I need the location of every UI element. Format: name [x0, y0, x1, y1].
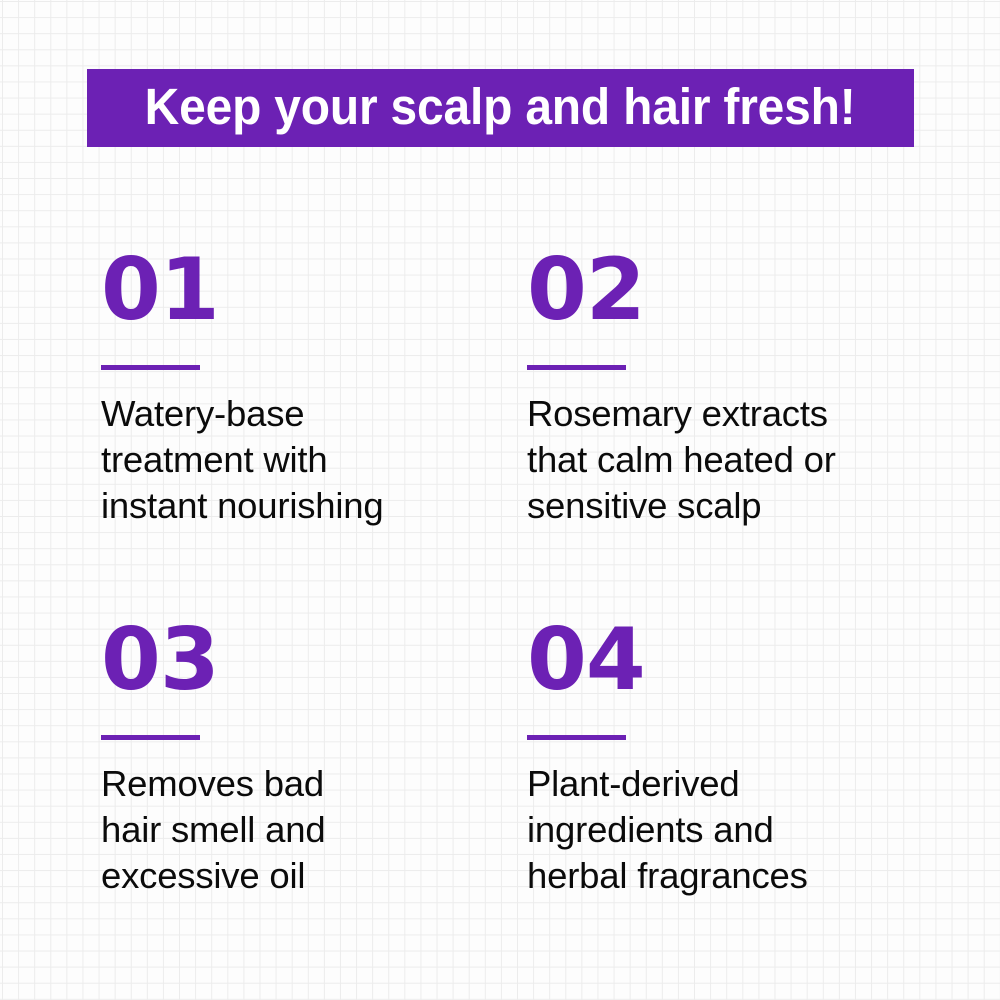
feature-text-04: Plant-derived ingredients and herbal fra…: [527, 761, 931, 899]
feature-item-01: 01 Watery-base treatment with instant no…: [101, 248, 527, 618]
feature-divider-01: [101, 365, 200, 370]
feature-number-02: 02: [527, 248, 931, 332]
feature-item-03: 03 Removes bad hair smell and excessive …: [101, 618, 527, 899]
poster-canvas: Keep your scalp and hair fresh! 01 Water…: [0, 0, 1000, 1000]
feature-text-02: Rosemary extracts that calm heated or se…: [527, 391, 931, 529]
feature-number-03: 03: [101, 618, 527, 702]
feature-text-03: Removes bad hair smell and excessive oil: [101, 761, 501, 899]
feature-text-01: Watery-base treatment with instant nouri…: [101, 391, 501, 529]
feature-number-04: 04: [527, 618, 931, 702]
feature-grid: 01 Watery-base treatment with instant no…: [101, 248, 931, 899]
feature-item-04: 04 Plant-derived ingredients and herbal …: [527, 618, 931, 899]
header-banner: Keep your scalp and hair fresh!: [87, 69, 914, 147]
feature-divider-02: [527, 365, 626, 370]
feature-divider-04: [527, 735, 626, 740]
feature-number-01: 01: [101, 248, 527, 332]
feature-item-02: 02 Rosemary extracts that calm heated or…: [527, 248, 931, 618]
page-title: Keep your scalp and hair fresh!: [145, 81, 856, 132]
feature-divider-03: [101, 735, 200, 740]
